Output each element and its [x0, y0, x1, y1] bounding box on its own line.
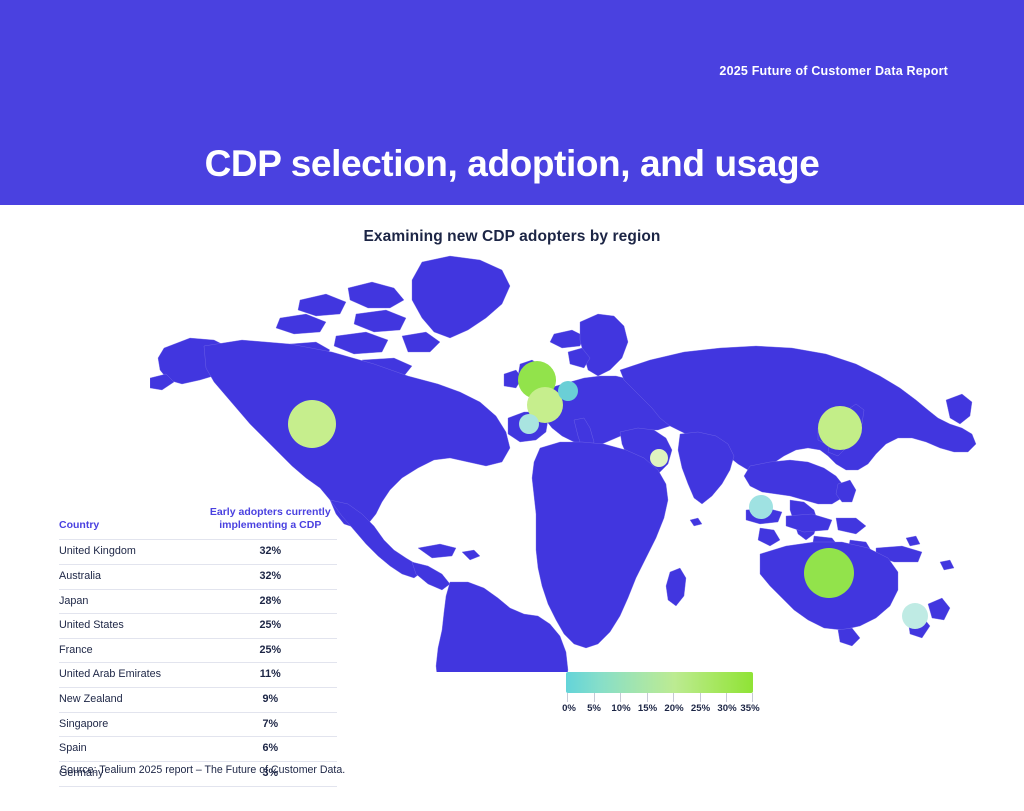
table-row: Spain 6%: [59, 737, 337, 762]
table-row: United Arab Emirates 11%: [59, 663, 337, 688]
cell-value: 25%: [204, 614, 337, 639]
source-note: Source: Tealium 2025 report – The Future…: [60, 764, 345, 776]
cell-value: 28%: [204, 589, 337, 614]
table-header-row: Country Early adopters currently impleme…: [59, 506, 337, 540]
bubble-japan: [818, 406, 862, 450]
cell-value: 6%: [204, 737, 337, 762]
color-scale-legend: 0% 5% 10% 15% 20% 25% 30% 35%: [566, 672, 756, 717]
chart-heading: Examining new CDP adopters by region: [0, 228, 1024, 246]
bubble-united-arab-emirates: [650, 449, 668, 467]
table-row: United Kingdom 32%: [59, 540, 337, 565]
table-row: Australia 32%: [59, 564, 337, 589]
cell-country: France: [59, 638, 204, 663]
legend-gradient-bar: [566, 672, 753, 693]
table-row: France 25%: [59, 638, 337, 663]
legend-tick-labels: 0% 5% 10% 15% 20% 25% 30% 35%: [566, 703, 753, 717]
cell-value: 11%: [204, 663, 337, 688]
legend-tick-label: 20%: [664, 703, 683, 714]
table-row: United States 25%: [59, 614, 337, 639]
adopters-table: Country Early adopters currently impleme…: [59, 506, 337, 787]
cell-value: 7%: [204, 712, 337, 737]
cell-country: New Zealand: [59, 688, 204, 713]
cell-value: 9%: [204, 688, 337, 713]
table-body: United Kingdom 32% Australia 32% Japan 2…: [59, 540, 337, 786]
legend-tick-label: 30%: [717, 703, 736, 714]
legend-tick-label: 0%: [562, 703, 576, 714]
legend-tick-label: 10%: [611, 703, 630, 714]
column-header-country: Country: [59, 506, 204, 540]
cell-country: United States: [59, 614, 204, 639]
legend-tick-label: 35%: [740, 703, 759, 714]
header-banner: 2025 Future of Customer Data Report CDP …: [0, 0, 1024, 205]
report-eyebrow-label: 2025 Future of Customer Data Report: [719, 64, 948, 78]
cell-country: Singapore: [59, 712, 204, 737]
legend-tick-label: 25%: [691, 703, 710, 714]
table-row: Singapore 7%: [59, 712, 337, 737]
bubble-new-zealand: [902, 603, 928, 629]
cell-value: 32%: [204, 564, 337, 589]
cell-country: Australia: [59, 564, 204, 589]
cell-country: Japan: [59, 589, 204, 614]
bubble-singapore: [749, 495, 773, 519]
legend-tick-label: 5%: [587, 703, 601, 714]
bubble-spain: [519, 414, 539, 434]
cell-country: United Kingdom: [59, 540, 204, 565]
column-header-metric: Early adopters currently implementing a …: [204, 506, 337, 540]
bubble-united-states: [288, 400, 336, 448]
table-row: New Zealand 9%: [59, 688, 337, 713]
legend-tick-marks: [566, 693, 753, 702]
cell-value: 25%: [204, 638, 337, 663]
cell-country: United Arab Emirates: [59, 663, 204, 688]
cell-country: Spain: [59, 737, 204, 762]
infographic-page: 2025 Future of Customer Data Report CDP …: [0, 0, 1024, 811]
table-row: Japan 28%: [59, 589, 337, 614]
bubble-germany: [558, 381, 578, 401]
legend-tick-label: 15%: [638, 703, 657, 714]
page-title: CDP selection, adoption, and usage: [0, 145, 1024, 182]
bubble-australia: [804, 548, 854, 598]
cell-value: 32%: [204, 540, 337, 565]
